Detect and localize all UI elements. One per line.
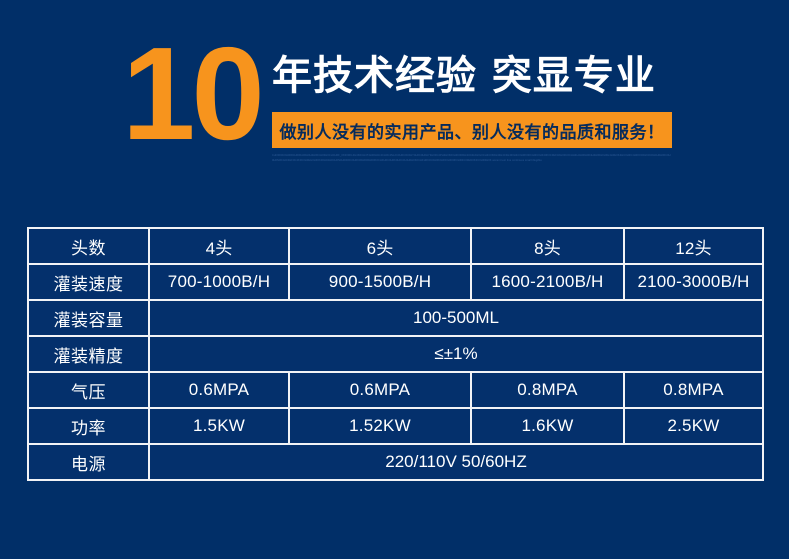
row-label-filling-speed: 灌装速度 (28, 264, 149, 300)
cell-heads-12: 12头 (624, 228, 763, 264)
decorative-microprint: Cıd0000C0H00D4H000A00H0H4H00CH00H0CHCH0F… (272, 154, 672, 163)
cell-power-6: 1.52KW (289, 408, 471, 444)
hero-text-block: 年技术经验 突显专业 做别人没有的实用产品、别人没有的品质和服务！ Cıd000… (272, 50, 674, 163)
cell-power-12: 2.5KW (624, 408, 763, 444)
cell-pressure-4: 0.6MPA (149, 372, 289, 408)
cell-power-supply: 220/110V 50/60HZ (149, 444, 763, 480)
cell-speed-4: 700-1000B/H (149, 264, 289, 300)
cell-heads-6: 6头 (289, 228, 471, 264)
specification-table: 头数 4头 6头 8头 12头 灌装速度 700-1000B/H 900-150… (27, 227, 764, 481)
row-label-power-supply: 电源 (28, 444, 149, 480)
cell-pressure-12: 0.8MPA (624, 372, 763, 408)
table-row: 功率 1.5KW 1.52KW 1.6KW 2.5KW (28, 408, 763, 444)
cell-heads-8: 8头 (471, 228, 624, 264)
hero-tagline-text: 做别人没有的实用产品、别人没有的品质和服务！ (280, 118, 665, 143)
row-label-heads: 头数 (28, 228, 149, 264)
hero-tagline-bar: 做别人没有的实用产品、别人没有的品质和服务！ (272, 112, 672, 148)
cell-speed-6: 900-1500B/H (289, 264, 471, 300)
table-row: 灌装精度 ≤±1% (28, 336, 763, 372)
row-label-power: 功率 (28, 408, 149, 444)
years-number: 10 (122, 28, 261, 160)
row-label-filling-volume: 灌装容量 (28, 300, 149, 336)
table-row: 气压 0.6MPA 0.6MPA 0.8MPA 0.8MPA (28, 372, 763, 408)
cell-speed-8: 1600-2100B/H (471, 264, 624, 300)
table-row: 电源 220/110V 50/60HZ (28, 444, 763, 480)
cell-filling-accuracy: ≤±1% (149, 336, 763, 372)
hero-headline: 年技术经验 突显专业 (272, 50, 674, 102)
cell-pressure-6: 0.6MPA (289, 372, 471, 408)
table-row: 灌装速度 700-1000B/H 900-1500B/H 1600-2100B/… (28, 264, 763, 300)
spec-table-container: 头数 4头 6头 8头 12头 灌装速度 700-1000B/H 900-150… (27, 227, 762, 481)
cell-speed-12: 2100-3000B/H (624, 264, 763, 300)
cell-power-4: 1.5KW (149, 408, 289, 444)
cell-filling-volume: 100-500ML (149, 300, 763, 336)
table-row: 灌装容量 100-500ML (28, 300, 763, 336)
table-row: 头数 4头 6头 8头 12头 (28, 228, 763, 264)
cell-pressure-8: 0.8MPA (471, 372, 624, 408)
cell-heads-4: 4头 (149, 228, 289, 264)
row-label-filling-accuracy: 灌装精度 (28, 336, 149, 372)
cell-power-8: 1.6KW (471, 408, 624, 444)
row-label-air-pressure: 气压 (28, 372, 149, 408)
hero-banner: 10 年技术经验 突显专业 做别人没有的实用产品、别人没有的品质和服务！ Cıd… (0, 0, 789, 200)
